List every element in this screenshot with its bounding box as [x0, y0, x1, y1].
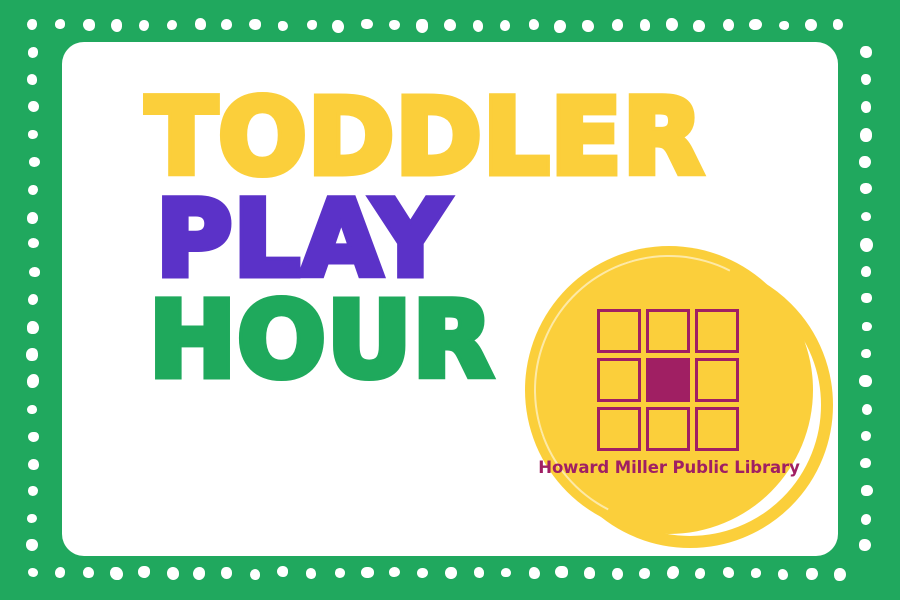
border-dot — [640, 19, 651, 31]
border-dot — [110, 567, 123, 581]
border-dot — [221, 19, 232, 30]
logo-grid-cell — [695, 358, 739, 402]
border-dot — [860, 128, 873, 142]
border-dot — [861, 101, 872, 113]
logo-grid-cell — [597, 309, 641, 353]
border-dot — [361, 567, 374, 579]
border-dot — [860, 458, 871, 468]
border-dot — [861, 212, 872, 222]
border-dot — [195, 18, 207, 30]
border-dot — [474, 567, 484, 577]
border-dot — [55, 567, 65, 578]
headline-line-3: HOUR — [149, 293, 582, 389]
border-dot — [249, 19, 261, 30]
border-dot — [361, 19, 372, 30]
border-dot — [335, 568, 345, 578]
logo-grid-cell — [695, 309, 739, 353]
library-logo: Howard Miller Public Library — [525, 246, 838, 556]
border-dot — [666, 18, 678, 31]
border-dot — [28, 294, 38, 305]
logo-grid-cell — [597, 358, 641, 402]
border-dot — [834, 568, 846, 581]
border-dot — [28, 486, 38, 496]
border-dot — [83, 19, 95, 31]
headline-block: TODDLER PLAY HOUR — [62, 90, 582, 389]
border-dot — [28, 47, 39, 58]
border-dot — [749, 19, 761, 30]
border-dot — [27, 212, 38, 223]
border-dot — [667, 566, 680, 579]
border-dot — [27, 405, 37, 415]
poster-canvas: TODDLER PLAY HOUR Howard Miller Public L… — [0, 0, 900, 600]
border-dot — [389, 20, 400, 31]
border-dot — [805, 19, 817, 31]
border-dot — [26, 348, 38, 360]
border-dot — [27, 514, 37, 523]
border-dot — [612, 568, 624, 581]
border-dot — [860, 183, 872, 194]
border-dot — [861, 349, 871, 359]
logo-grid-cell — [597, 407, 641, 451]
border-dot — [612, 19, 624, 31]
border-dot — [278, 21, 288, 31]
border-dot — [584, 567, 596, 579]
border-dot — [416, 19, 428, 32]
border-dot — [28, 459, 39, 471]
border-dot — [723, 19, 734, 31]
border-dot — [55, 19, 66, 29]
border-dot — [778, 569, 788, 580]
border-dot — [861, 293, 871, 303]
border-dot — [28, 432, 39, 443]
logo-grid-cell — [646, 407, 690, 451]
border-dot — [332, 20, 344, 33]
border-dot — [860, 238, 873, 252]
border-dot — [861, 431, 871, 441]
border-dot — [27, 74, 37, 84]
logo-grid-cell — [646, 309, 690, 353]
border-dot — [28, 130, 38, 139]
border-dot — [693, 20, 705, 33]
border-dot — [859, 375, 872, 388]
border-dot — [111, 19, 123, 32]
border-dot — [555, 566, 568, 578]
border-dot — [695, 568, 706, 579]
border-dot — [389, 567, 399, 577]
border-dot — [29, 267, 40, 277]
border-dot — [554, 20, 566, 33]
border-dot — [28, 238, 39, 248]
logo-grid-cell — [646, 358, 690, 402]
border-dot — [529, 567, 540, 579]
border-dot — [193, 567, 206, 580]
logo-grid-icon — [597, 309, 743, 451]
border-dot — [28, 101, 39, 113]
border-dot — [167, 567, 179, 580]
border-dot — [417, 568, 428, 578]
border-dot — [501, 568, 511, 577]
border-dot — [861, 485, 873, 497]
border-dot — [861, 514, 872, 525]
border-dot — [473, 20, 484, 32]
border-dot — [28, 185, 38, 196]
border-dot — [277, 566, 288, 577]
border-dot — [139, 20, 149, 31]
border-dot — [221, 567, 232, 579]
border-dot — [29, 157, 40, 167]
border-dot — [444, 19, 456, 31]
poster-card: TODDLER PLAY HOUR Howard Miller Public L… — [62, 42, 838, 556]
border-dot — [500, 20, 511, 32]
border-dot — [859, 156, 871, 169]
border-dot — [28, 568, 38, 577]
border-dot — [862, 322, 872, 332]
border-dot — [751, 568, 762, 578]
border-dot — [250, 569, 260, 580]
border-dot — [779, 21, 789, 30]
logo-circle: Howard Miller Public Library — [525, 246, 813, 534]
border-dot — [639, 568, 650, 579]
border-dot — [862, 404, 873, 415]
border-dot — [860, 46, 872, 58]
border-dot — [529, 19, 539, 30]
border-dot — [27, 321, 39, 334]
border-dot — [859, 539, 870, 551]
headline-line-2: PLAY — [156, 192, 582, 288]
logo-grid-cell — [695, 407, 739, 451]
border-dot — [307, 20, 317, 31]
border-dot — [723, 567, 734, 578]
border-dot — [445, 567, 457, 579]
border-dot — [861, 74, 871, 85]
border-dot — [861, 266, 871, 277]
border-dot — [306, 568, 316, 578]
border-dot — [138, 566, 151, 578]
border-dot — [27, 19, 37, 30]
border-dot — [833, 19, 843, 30]
border-dot — [806, 568, 818, 580]
border-dot — [582, 20, 594, 32]
headline-line-1: TODDLER — [146, 90, 582, 186]
border-dot — [27, 374, 40, 388]
border-dot — [26, 539, 38, 551]
border-dot — [83, 567, 94, 579]
border-dot — [167, 20, 177, 31]
library-name: Howard Miller Public Library — [525, 458, 813, 477]
